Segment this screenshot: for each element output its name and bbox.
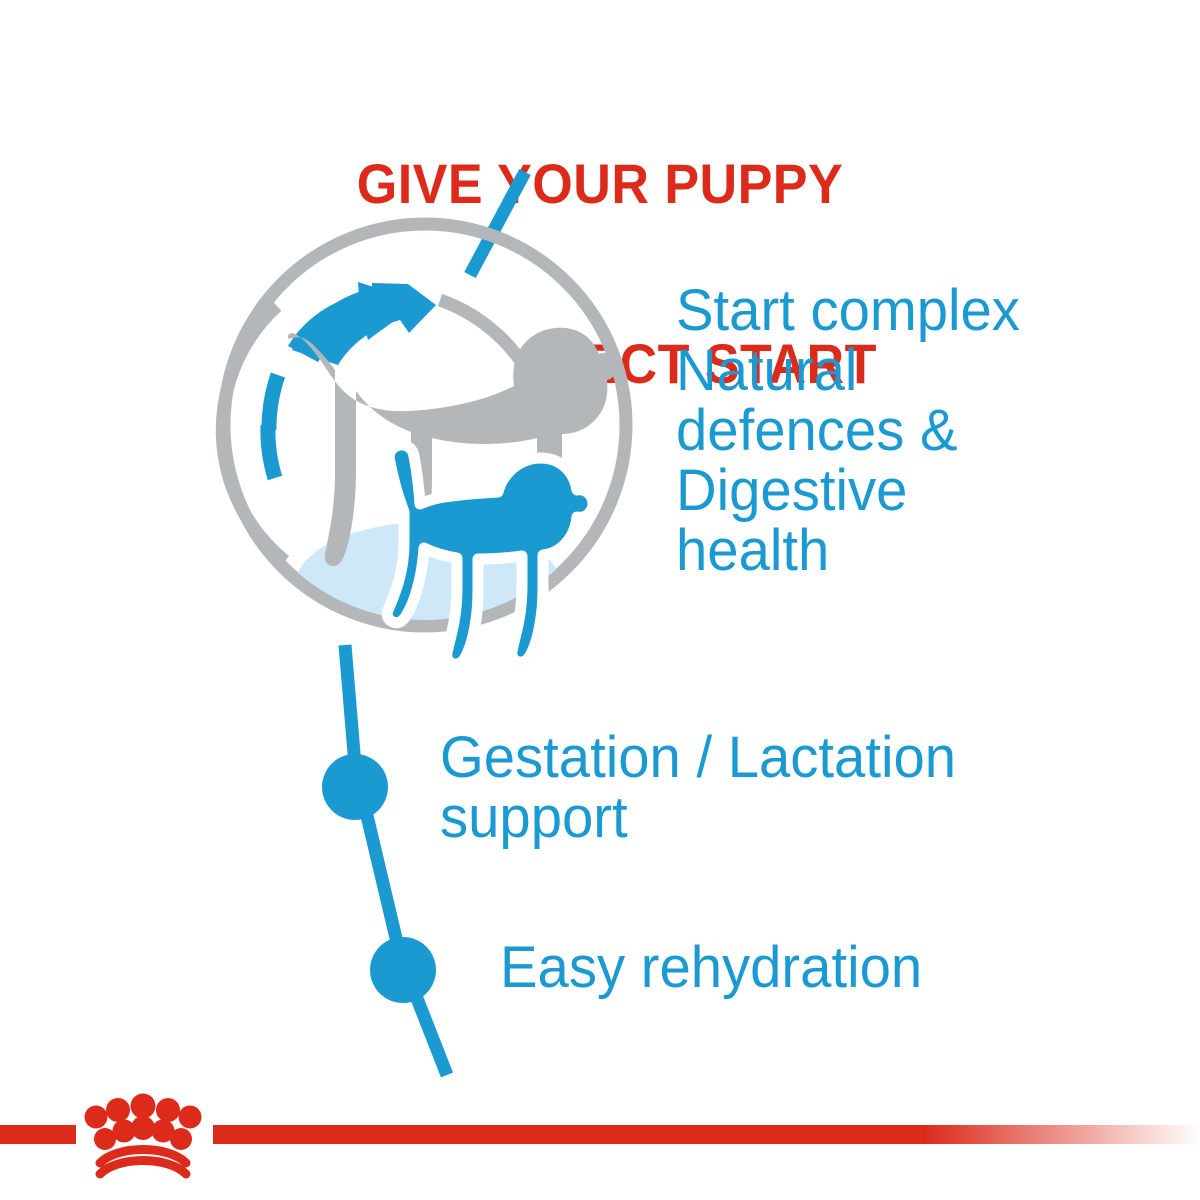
infographic-canvas: GIVE YOUR PUPPY THE PERFECT START — [0, 0, 1200, 1200]
royal-canin-crown-logo — [85, 1094, 202, 1175]
footer — [0, 0, 1200, 1200]
left-rule — [0, 1125, 76, 1144]
right-rule — [213, 1125, 1200, 1144]
